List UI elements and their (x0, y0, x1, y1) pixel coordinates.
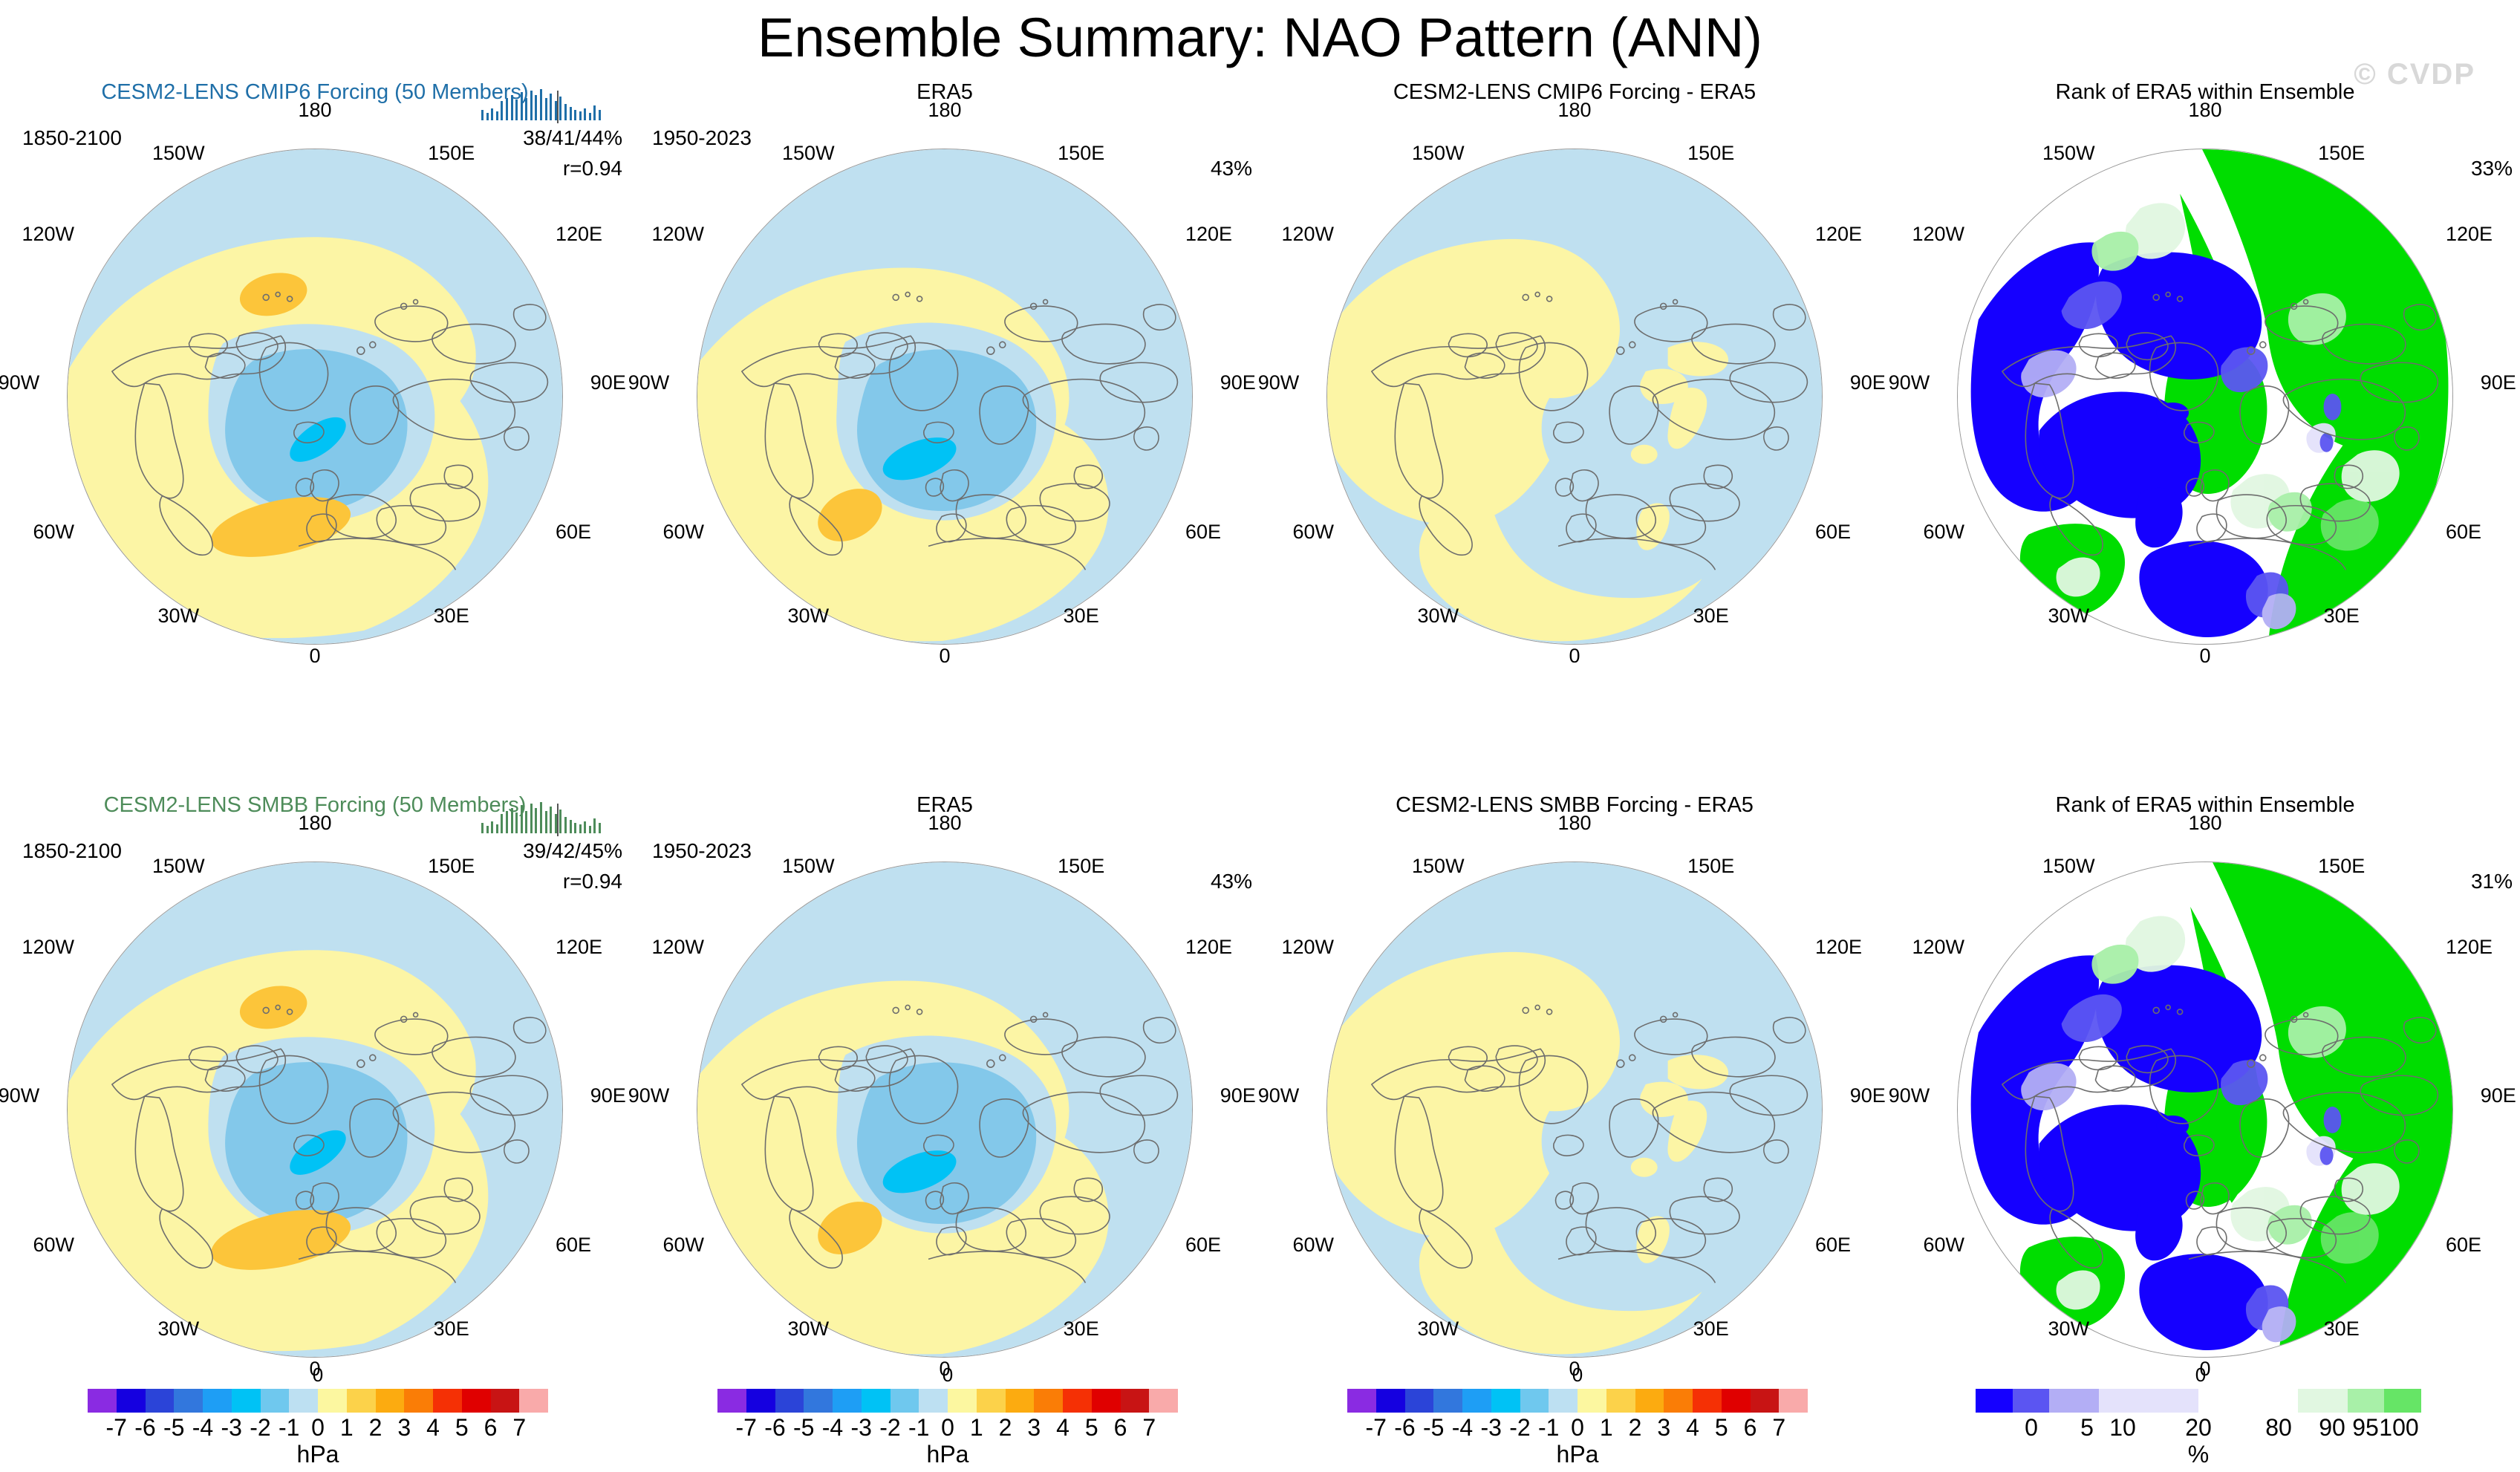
lon-label-60W: 60W (1292, 521, 1334, 544)
colorbar-tick--2: -2 (250, 1414, 270, 1442)
variance-explained-era5-pattern-bottom: 43% (1211, 870, 1252, 893)
period-label-era5-pattern-bottom: 1950-2023 (652, 839, 752, 863)
lon-label-60E: 60E (2446, 521, 2481, 544)
ensemble-tick (486, 113, 489, 120)
lon-label-0: 0 (2199, 645, 2210, 668)
lon-label-150W: 150W (152, 142, 205, 165)
colorbar-zero-label: 0 (942, 1364, 953, 1387)
colorbar-swatch (404, 1389, 433, 1413)
colorbar-swatch (88, 1389, 117, 1413)
colorbar-swatch (1121, 1389, 1150, 1413)
lon-label-120W: 120W (1912, 936, 1964, 959)
ensemble-tick (506, 98, 508, 120)
lon-label-120E: 120E (556, 223, 602, 246)
colorbar-swatch (2198, 1389, 2298, 1413)
lon-label-90W: 90W (1889, 371, 1930, 394)
lon-label-60W: 60W (33, 1234, 74, 1257)
period-label-cesm2-smbb-pattern: 1850-2100 (22, 839, 122, 863)
ensemble-spread-histogram-cesm2-cmip6-pattern (477, 91, 603, 123)
colorbar-tick-7: 7 (1772, 1414, 1785, 1442)
lon-label-120E: 120E (1185, 936, 1232, 959)
colorbar-tick-0: 0 (311, 1414, 325, 1442)
map-disc-cesm2-smbb-diff (1326, 862, 1823, 1358)
pattern-correlation-cesm2-smbb-pattern: r=0.94 (563, 870, 622, 893)
colorbar-units: hPa (88, 1441, 548, 1468)
map-disc-rank-era5-bottom (1957, 862, 2453, 1358)
lon-label-150E: 150E (2318, 142, 2365, 165)
colorbar-tick-10: 10 (2109, 1414, 2136, 1442)
figure-canvas: Ensemble Summary: NAO Pattern (ANN) © CV… (0, 0, 2520, 1472)
colorbar-tick-0: 0 (2025, 1414, 2038, 1442)
map-disc-era5-pattern-top (697, 149, 1193, 645)
ensemble-tick (584, 821, 586, 833)
lon-label-150E: 150E (2318, 855, 2365, 878)
lon-label-90E: 90E (2481, 1084, 2516, 1107)
ensemble-tick (491, 108, 493, 120)
ensemble-tick (535, 95, 537, 120)
lon-label-0: 0 (939, 645, 950, 668)
colorbar-tick-5: 5 (1085, 1414, 1098, 1442)
lon-label-60E: 60E (1185, 1234, 1221, 1257)
map-disc-cesm2-smbb-pattern (67, 862, 563, 1358)
ensemble-tick (550, 807, 552, 833)
lon-label-120W: 120W (1281, 223, 1334, 246)
colorbar-tick-2: 2 (369, 1414, 382, 1442)
colorbar-swatch (833, 1389, 862, 1413)
colorbar-strip (1976, 1389, 2421, 1413)
lon-label-90W: 90W (1258, 371, 1300, 394)
colorbar-zero-label: 0 (1572, 1364, 1583, 1387)
colorbar-units: % (1976, 1441, 2421, 1468)
lon-label-120W: 120W (1912, 223, 1964, 246)
colorbar-tick-90: 90 (2319, 1414, 2345, 1442)
variance-explained-rank-era5-bottom: 31% (2471, 870, 2513, 893)
colorbar-swatch (2013, 1389, 2050, 1413)
lon-label-30W: 30W (158, 605, 200, 628)
colorbar-swatch (1635, 1389, 1664, 1413)
colorbar-tick--6: -6 (764, 1414, 785, 1442)
lon-label-30E: 30E (2324, 605, 2360, 628)
lon-label-60W: 60W (662, 521, 704, 544)
lon-label-90E: 90E (1850, 371, 1886, 394)
colorbar-hpa-3: 0-7-6-5-4-3-2-101234567hPa (1347, 1372, 1808, 1469)
colorbar-strip (717, 1389, 1178, 1413)
lon-label-120E: 120E (2446, 936, 2493, 959)
ensemble-tick (530, 804, 533, 833)
map-cesm2-cmip6-pattern: 180150W120W90W60W30W030E60E90E120E150E (67, 149, 563, 645)
colorbar-hpa-1: 0-7-6-5-4-3-2-101234567hPa (88, 1372, 548, 1469)
lon-label-150E: 150E (1058, 855, 1104, 878)
lon-label-30E: 30E (1693, 605, 1729, 628)
lon-label-60E: 60E (556, 521, 591, 544)
map-cesm2-smbb-diff: 180150W120W90W60W30W030E60E90E120E150E (1326, 862, 1823, 1358)
ensemble-tick (515, 812, 518, 833)
ensemble-tick (540, 89, 542, 120)
map-panel-rank-era5-top: Rank of ERA5 within Ensemble33% (1890, 80, 2520, 689)
lon-label-60E: 60E (1185, 521, 1221, 544)
lon-label-90E: 90E (590, 1084, 626, 1107)
colorbar-swatch (2099, 1389, 2198, 1413)
lon-label-90W: 90W (628, 1084, 670, 1107)
lon-label-150W: 150W (2042, 855, 2095, 878)
period-label-era5-pattern-top: 1950-2023 (652, 126, 752, 150)
colorbar-swatch (1491, 1389, 1520, 1413)
colorbar-hpa-2: 0-7-6-5-4-3-2-101234567hPa (717, 1372, 1178, 1469)
lon-label-30E: 30E (1064, 1318, 1099, 1341)
colorbar-tick-3: 3 (397, 1414, 411, 1442)
variance-explained-era5-pattern-top: 43% (1211, 157, 1252, 180)
map-cesm2-smbb-pattern: 180150W120W90W60W30W030E60E90E120E150E (67, 862, 563, 1358)
map-era5-pattern-bottom: 180150W120W90W60W30W030E60E90E120E150E (697, 862, 1193, 1358)
lon-label-180: 180 (2188, 99, 2221, 122)
colorbar-swatch (891, 1389, 919, 1413)
colorbar-swatch (433, 1389, 462, 1413)
lon-label-30E: 30E (1693, 1318, 1729, 1341)
colorbar-tick-7: 7 (1142, 1414, 1156, 1442)
ensemble-tick (506, 811, 508, 833)
colorbar-swatch (289, 1389, 318, 1413)
colorbar-swatch (519, 1389, 548, 1413)
lon-label-30W: 30W (788, 1318, 830, 1341)
ensemble-tick (589, 826, 591, 833)
colorbar-swatch (2348, 1389, 2385, 1413)
ensemble-tick (599, 823, 601, 833)
lon-label-90W: 90W (1889, 1084, 1930, 1107)
colorbar-ticks: -7-6-5-4-3-2-101234567 (88, 1414, 548, 1439)
page-title: Ensemble Summary: NAO Pattern (ANN) (0, 6, 2520, 69)
colorbar-tick--6: -6 (1394, 1414, 1415, 1442)
ensemble-tick (501, 814, 503, 833)
colorbar-swatch (1376, 1389, 1405, 1413)
ensemble-tick (570, 107, 572, 120)
colorbar-swatch (1693, 1389, 1722, 1413)
colorbar-swatch (174, 1389, 203, 1413)
lon-label-150E: 150E (1058, 142, 1104, 165)
lon-label-90E: 90E (1850, 1084, 1886, 1107)
ensemble-tick (593, 105, 596, 120)
ensemble-tick (559, 810, 561, 833)
colorbar-ticks: 051020809095100 (1976, 1414, 2421, 1439)
colorbar-tick--6: -6 (134, 1414, 155, 1442)
colorbar-swatch (1034, 1389, 1063, 1413)
colorbar-swatch (462, 1389, 491, 1413)
lon-label-120W: 120W (22, 936, 74, 959)
colorbar-swatch (1092, 1389, 1121, 1413)
colorbar-strip (88, 1389, 548, 1413)
lon-label-150W: 150W (1412, 855, 1465, 878)
colorbar-tick-3: 3 (1027, 1414, 1041, 1442)
colorbar-swatch (376, 1389, 405, 1413)
colorbar-tick--5: -5 (1423, 1414, 1444, 1442)
colorbar-tick--2: -2 (879, 1414, 900, 1442)
lon-label-60E: 60E (556, 1234, 591, 1257)
lon-label-60E: 60E (2446, 1234, 2481, 1257)
ensemble-tick (579, 111, 582, 120)
colorbar-swatch (746, 1389, 775, 1413)
ensemble-tick (496, 824, 498, 833)
lon-label-120W: 120W (22, 223, 74, 246)
ensemble-tick (481, 823, 484, 833)
colorbar-swatch (2298, 1389, 2348, 1413)
ensemble-tick (515, 100, 518, 120)
map-panel-cesm2-cmip6-diff: CESM2-LENS CMIP6 Forcing - ERA5 (1260, 80, 1889, 689)
colorbar-rank: 0051020809095100% (1976, 1372, 2421, 1469)
map-panel-era5-pattern-bottom: ERA51950-202343% (630, 793, 1260, 1402)
lon-label-30W: 30W (1418, 605, 1459, 628)
lon-label-150E: 150E (1687, 855, 1734, 878)
colorbar-tick--4: -4 (822, 1414, 843, 1442)
ensemble-tick (564, 817, 567, 833)
colorbar-tick-6: 6 (1114, 1414, 1127, 1442)
colorbar-tick-1: 1 (970, 1414, 983, 1442)
map-panel-cesm2-smbb-diff: CESM2-LENS SMBB Forcing - ERA5 (1260, 793, 1889, 1402)
colorbar-tick-5: 5 (2080, 1414, 2094, 1442)
map-panel-era5-pattern-top: ERA51950-202343% (630, 80, 1260, 689)
colorbar-tick--4: -4 (192, 1414, 213, 1442)
colorbar-swatch (318, 1389, 347, 1413)
colorbar-swatch (1006, 1389, 1035, 1413)
colorbar-swatch (1063, 1389, 1092, 1413)
map-era5-pattern-top: 180150W120W90W60W30W030E60E90E120E150E (697, 149, 1193, 645)
colorbar-swatch (347, 1389, 376, 1413)
lon-label-30W: 30W (158, 1318, 200, 1341)
colorbar-tick--2: -2 (1509, 1414, 1530, 1442)
lon-label-150W: 150W (152, 855, 205, 878)
lon-label-90E: 90E (2481, 371, 2516, 394)
lon-label-120E: 120E (1815, 936, 1862, 959)
lon-label-180: 180 (1557, 99, 1591, 122)
ensemble-tick (584, 108, 586, 120)
map-disc-cesm2-cmip6-diff (1326, 149, 1823, 645)
colorbar-swatch (1405, 1389, 1434, 1413)
lon-label-120E: 120E (2446, 223, 2493, 246)
ensemble-tick (521, 805, 523, 833)
lon-label-120E: 120E (1185, 223, 1232, 246)
lon-label-60W: 60W (33, 521, 74, 544)
colorbar-ticks: -7-6-5-4-3-2-101234567 (1347, 1414, 1808, 1439)
lon-label-30W: 30W (788, 605, 830, 628)
colorbar-tick-3: 3 (1657, 1414, 1670, 1442)
lon-label-60W: 60W (1923, 1234, 1964, 1257)
variance-explained-cesm2-cmip6-pattern: 38/41/44% (523, 126, 622, 150)
colorbar-tick-4: 4 (1686, 1414, 1699, 1442)
colorbar-swatch (1606, 1389, 1635, 1413)
ensemble-tick (535, 808, 537, 833)
colorbar-swatch (491, 1389, 520, 1413)
colorbar-swatch (1520, 1389, 1549, 1413)
ensemble-mean-marker (557, 804, 559, 836)
colorbar-tick--1: -1 (908, 1414, 929, 1442)
colorbar-tick-1: 1 (340, 1414, 354, 1442)
colorbar-tick--7: -7 (106, 1414, 127, 1442)
lon-label-90W: 90W (0, 371, 39, 394)
map-disc-cesm2-cmip6-pattern (67, 149, 563, 645)
lon-label-150E: 150E (1687, 142, 1734, 165)
colorbar-swatch (261, 1389, 290, 1413)
colorbar-swatch (804, 1389, 833, 1413)
lon-label-30W: 30W (1418, 1318, 1459, 1341)
ensemble-tick (570, 820, 572, 833)
colorbar-ticks: -7-6-5-4-3-2-101234567 (717, 1414, 1178, 1439)
ensemble-tick (574, 823, 576, 833)
ensemble-tick (491, 821, 493, 833)
pattern-correlation-cesm2-cmip6-pattern: r=0.94 (563, 157, 622, 180)
colorbar-swatch (203, 1389, 232, 1413)
ensemble-tick (545, 811, 547, 833)
ensemble-tick (521, 92, 523, 120)
colorbar-tick-80: 80 (2265, 1414, 2292, 1442)
colorbar-tick-100: 100 (2379, 1414, 2418, 1442)
colorbar-tick--3: -3 (851, 1414, 872, 1442)
colorbar-swatch (2384, 1389, 2421, 1413)
lon-label-60W: 60W (662, 1234, 704, 1257)
ensemble-tick (511, 95, 513, 120)
ensemble-tick (481, 110, 484, 120)
colorbar-swatch (1779, 1389, 1808, 1413)
colorbar-tick-6: 6 (484, 1414, 498, 1442)
ensemble-tick (511, 808, 513, 833)
ensemble-tick (593, 818, 596, 833)
lon-label-0: 0 (1569, 645, 1580, 668)
colorbar-swatch (1347, 1389, 1376, 1413)
ensemble-tick (525, 98, 527, 120)
ensemble-tick (579, 824, 582, 833)
lon-label-30W: 30W (2048, 605, 2090, 628)
ensemble-tick (559, 97, 561, 120)
colorbar-tick-95: 95 (2352, 1414, 2379, 1442)
ensemble-tick (599, 110, 601, 120)
lon-label-60E: 60E (1815, 521, 1851, 544)
lon-label-0: 0 (309, 645, 320, 668)
ensemble-tick (540, 802, 542, 833)
colorbar-tick--5: -5 (163, 1414, 184, 1442)
ensemble-tick (589, 113, 591, 120)
lon-label-150W: 150W (782, 855, 835, 878)
variance-explained-rank-era5-top: 33% (2471, 157, 2513, 180)
lon-label-150W: 150W (782, 142, 835, 165)
map-panel-rank-era5-bottom: Rank of ERA5 within Ensemble31% (1890, 793, 2520, 1402)
ensemble-tick (501, 101, 503, 120)
lon-label-180: 180 (298, 99, 331, 122)
colorbar-tick-0: 0 (941, 1414, 954, 1442)
lon-label-90W: 90W (1258, 1084, 1300, 1107)
colorbar-swatch (977, 1389, 1006, 1413)
colorbar-swatch (1462, 1389, 1491, 1413)
lon-label-30E: 30E (1064, 605, 1099, 628)
colorbar-tick--7: -7 (1366, 1414, 1387, 1442)
ensemble-tick (550, 94, 552, 120)
ensemble-tick (530, 91, 533, 120)
lon-label-30E: 30E (2324, 1318, 2360, 1341)
colorbar-swatch (146, 1389, 175, 1413)
colorbar-tick-6: 6 (1744, 1414, 1757, 1442)
lon-label-120W: 120W (651, 936, 704, 959)
colorbar-swatch (948, 1389, 977, 1413)
colorbar-tick-4: 4 (426, 1414, 440, 1442)
colorbar-tick-20: 20 (2185, 1414, 2212, 1442)
colorbar-swatch (1722, 1389, 1751, 1413)
colorbar-swatch (919, 1389, 948, 1413)
colorbar-tick--3: -3 (221, 1414, 242, 1442)
colorbar-tick--4: -4 (1452, 1414, 1473, 1442)
period-label-cesm2-cmip6-pattern: 1850-2100 (22, 126, 122, 150)
colorbar-tick-1: 1 (1600, 1414, 1613, 1442)
lon-label-180: 180 (928, 812, 961, 835)
lon-label-30E: 30E (434, 1318, 469, 1341)
colorbar-tick-7: 7 (512, 1414, 526, 1442)
lon-label-180: 180 (1557, 812, 1591, 835)
colorbar-tick--5: -5 (793, 1414, 814, 1442)
lon-label-120W: 120W (1281, 936, 1334, 959)
colorbar-tick-4: 4 (1056, 1414, 1069, 1442)
map-cesm2-cmip6-diff: 180150W120W90W60W30W030E60E90E120E150E (1326, 149, 1823, 645)
colorbar-swatch (117, 1389, 146, 1413)
lon-label-90W: 90W (628, 371, 670, 394)
map-rank-era5-bottom: 180150W120W90W60W30W030E60E90E120E150E (1957, 862, 2453, 1358)
lon-label-120E: 120E (556, 936, 602, 959)
colorbar-units: hPa (1347, 1441, 1808, 1468)
colorbar-swatch (862, 1389, 891, 1413)
lon-label-90E: 90E (1220, 1084, 1256, 1107)
ensemble-tick (525, 811, 527, 833)
variance-explained-cesm2-smbb-pattern: 39/42/45% (523, 839, 622, 863)
colorbar-swatch (2049, 1389, 2099, 1413)
map-panel-cesm2-cmip6-pattern: CESM2-LENS CMIP6 Forcing (50 Members)185… (0, 80, 630, 689)
lon-label-90E: 90E (1220, 371, 1256, 394)
colorbar-zero-label: 0 (313, 1364, 323, 1387)
ensemble-tick (545, 98, 547, 120)
lon-label-180: 180 (298, 812, 331, 835)
ensemble-mean-marker (557, 91, 559, 123)
colorbar-tick-0: 0 (1571, 1414, 1584, 1442)
lon-label-150E: 150E (428, 142, 475, 165)
map-rank-era5-top: 180150W120W90W60W30W030E60E90E120E150E (1957, 149, 2453, 645)
colorbar-swatch (1549, 1389, 1578, 1413)
lon-label-180: 180 (2188, 812, 2221, 835)
colorbar-units: hPa (717, 1441, 1178, 1468)
colorbar-tick--1: -1 (279, 1414, 299, 1442)
colorbar-swatch (775, 1389, 804, 1413)
colorbar-strip (1347, 1389, 1808, 1413)
lon-label-30W: 30W (2048, 1318, 2090, 1341)
lon-label-150E: 150E (428, 855, 475, 878)
ensemble-spread-histogram-cesm2-smbb-pattern (477, 804, 603, 836)
lon-label-150W: 150W (2042, 142, 2095, 165)
map-disc-era5-pattern-bottom (697, 862, 1193, 1358)
lon-label-120E: 120E (1815, 223, 1862, 246)
colorbar-swatch (1976, 1389, 2013, 1413)
lon-label-90E: 90E (590, 371, 626, 394)
colorbar-tick--1: -1 (1538, 1414, 1559, 1442)
colorbar-tick--3: -3 (1481, 1414, 1502, 1442)
ensemble-tick (496, 111, 498, 120)
colorbar-tick-2: 2 (999, 1414, 1012, 1442)
colorbar-swatch (1433, 1389, 1462, 1413)
colorbar-swatch (232, 1389, 261, 1413)
lon-label-120W: 120W (651, 223, 704, 246)
map-disc-rank-era5-top (1957, 149, 2453, 645)
colorbar-tick-2: 2 (1629, 1414, 1642, 1442)
lon-label-30E: 30E (434, 605, 469, 628)
colorbar-swatch (1149, 1389, 1178, 1413)
lon-label-150W: 150W (1412, 142, 1465, 165)
lon-label-180: 180 (928, 99, 961, 122)
colorbar-tick-5: 5 (455, 1414, 469, 1442)
colorbar-swatch (717, 1389, 746, 1413)
lon-label-60W: 60W (1923, 521, 1964, 544)
colorbar-swatch (1664, 1389, 1693, 1413)
ensemble-tick (486, 826, 489, 833)
